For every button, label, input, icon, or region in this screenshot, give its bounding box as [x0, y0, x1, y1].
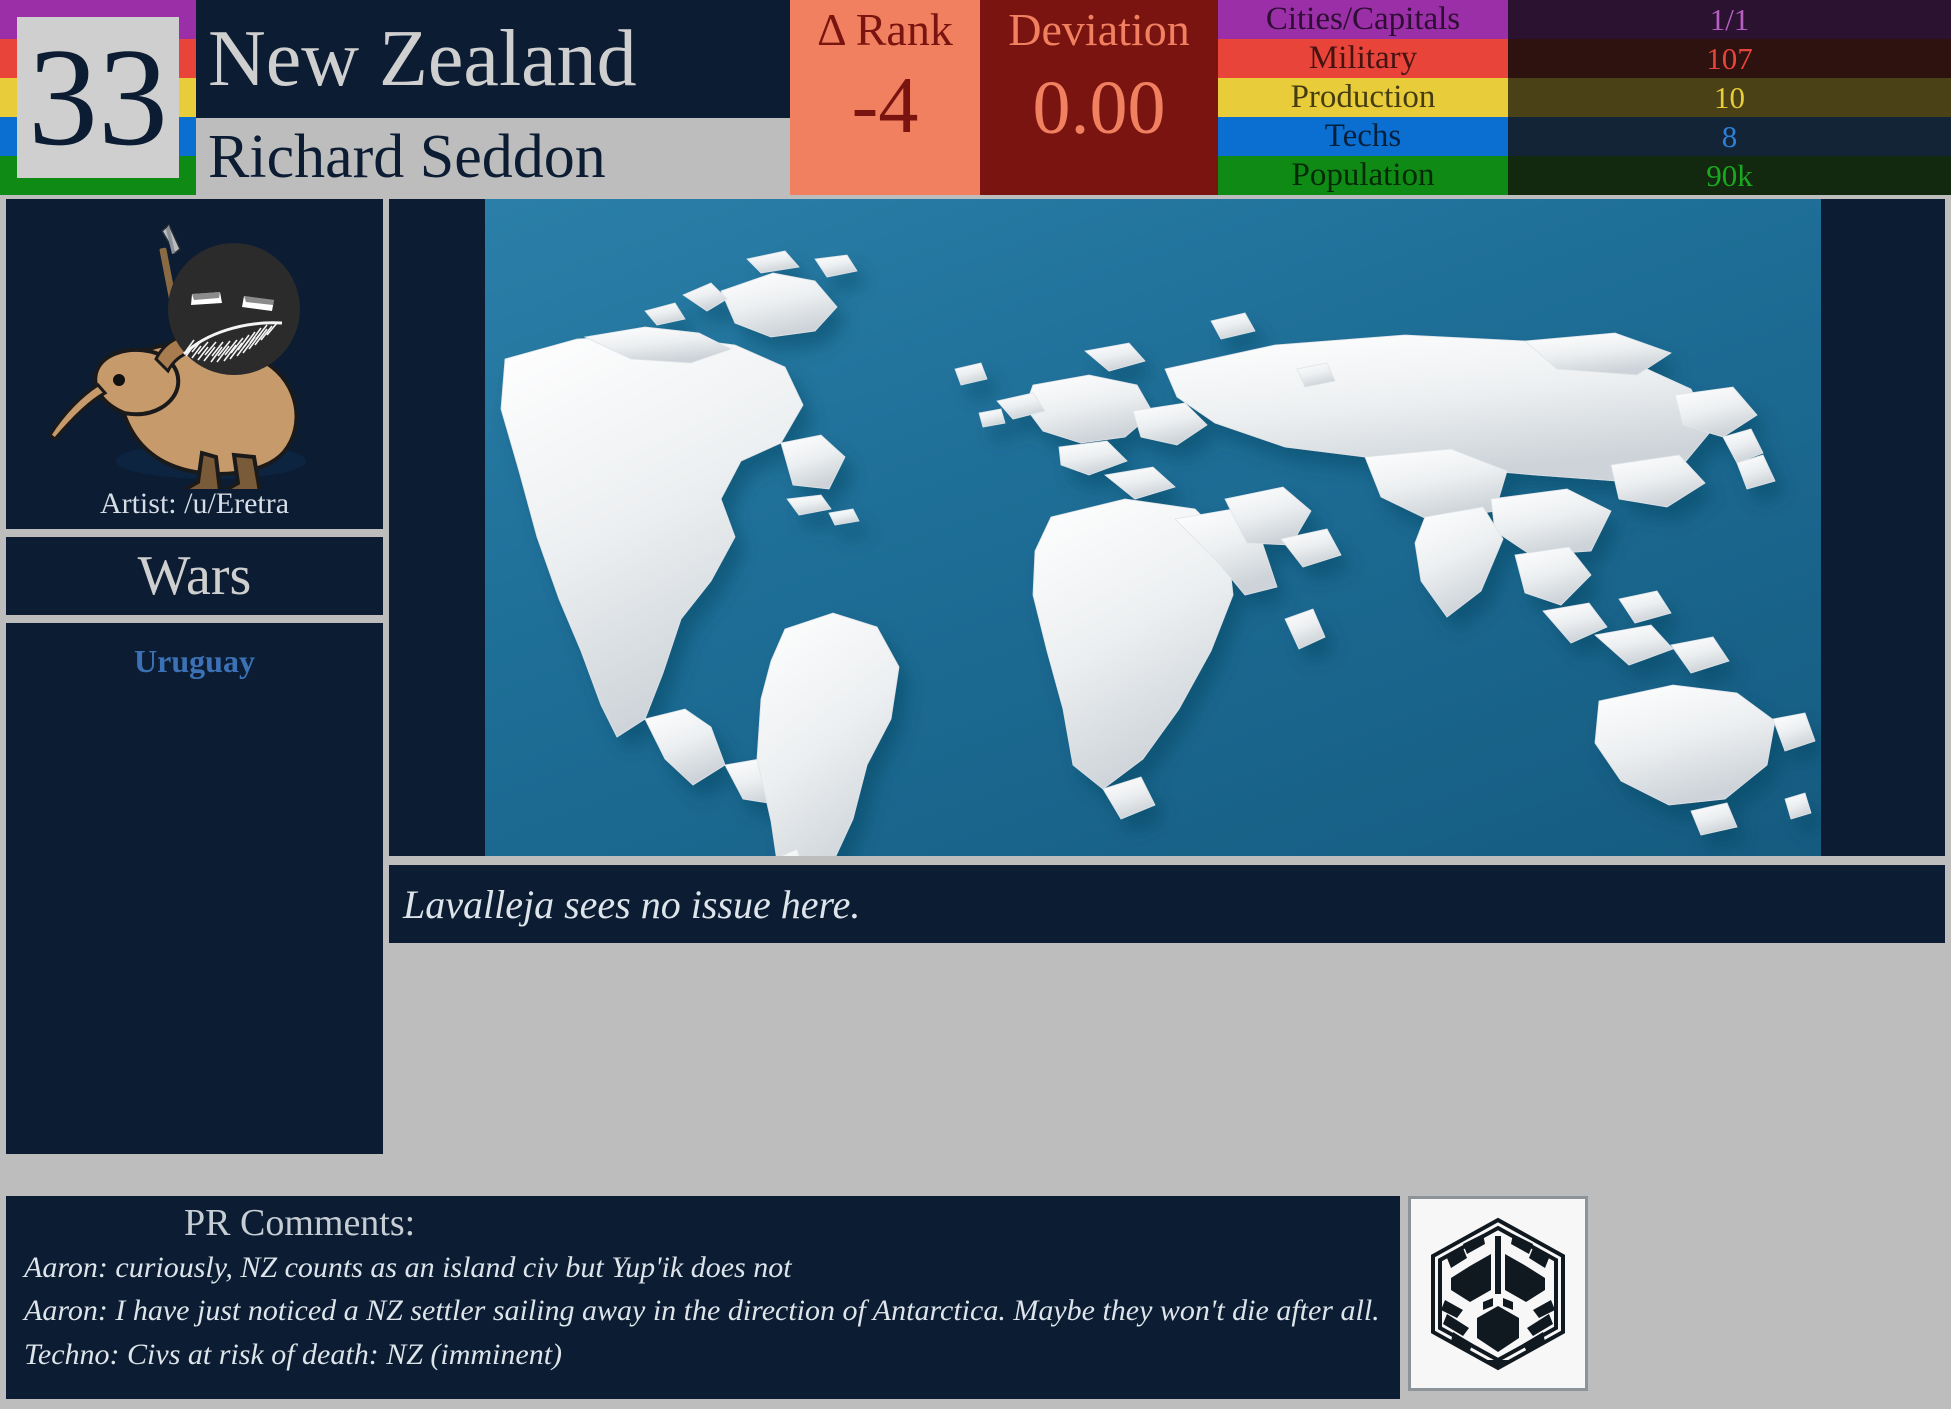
right-column: Lavalleja sees no issue here. [389, 199, 1945, 1154]
deviation-value: 0.00 [1033, 54, 1166, 146]
card-body: Artist: /u/Eretra Wars Uruguay [0, 195, 1951, 1160]
stat-label: Military [1218, 39, 1508, 78]
rank-number-plate: 33 [17, 17, 179, 178]
stat-row: Production10 [1218, 78, 1951, 117]
deviation-label: Deviation [1008, 0, 1189, 54]
caption-text: Lavalleja sees no issue here. [389, 881, 860, 928]
deviation-panel: Deviation 0.00 [980, 0, 1218, 195]
pr-comment: Techno: Civs at risk of death: NZ (immin… [24, 1333, 1400, 1377]
caption-panel: Lavalleja sees no issue here. [389, 865, 1945, 943]
pr-comment: Aaron: I have just noticed a NZ settler … [24, 1289, 1400, 1333]
leader-name-row: Richard Seddon [196, 118, 790, 195]
pr-comments-panel: PR Comments: Aaron: curiously, NZ counts… [6, 1196, 1400, 1399]
logo-panel [1408, 1196, 1588, 1391]
leader-name: Richard Seddon [196, 126, 606, 188]
artwork-panel: Artist: /u/Eretra [6, 199, 383, 529]
pr-comments-list: Aaron: curiously, NZ counts as an island… [24, 1246, 1400, 1377]
delta-rank-label: Δ Rank [817, 0, 953, 54]
stat-row: Military107 [1218, 39, 1951, 78]
map-panel [389, 199, 1945, 856]
civ-summary-card: 33 New Zealand Richard Seddon Δ Rank -4 … [0, 0, 1951, 1409]
stat-row: Cities/Capitals1/1 [1218, 0, 1951, 39]
artist-credit: Artist: /u/Eretra [6, 487, 383, 521]
stats-table: Cities/Capitals1/1Military107Production1… [1218, 0, 1951, 195]
delta-rank-panel: Δ Rank -4 [790, 0, 980, 195]
stat-row: Techs8 [1218, 117, 1951, 156]
stat-value: 1/1 [1508, 0, 1951, 39]
kiwi-countryball-icon [6, 199, 383, 489]
wars-header: Wars [6, 537, 383, 615]
pr-comment: Aaron: curiously, NZ counts as an island… [24, 1246, 1400, 1290]
stat-value: 107 [1508, 39, 1951, 78]
title-block: New Zealand Richard Seddon [196, 0, 790, 195]
stat-label: Production [1218, 78, 1508, 117]
pr-comments-title: PR Comments: [24, 1202, 1400, 1246]
stat-value: 10 [1508, 78, 1951, 117]
world-map-image [485, 199, 1821, 856]
delta-rank-value: -4 [852, 54, 919, 146]
war-opponent[interactable]: Uruguay [6, 637, 383, 685]
civ-name: New Zealand [196, 19, 637, 99]
stat-value: 8 [1508, 117, 1951, 156]
wars-title: Wars [138, 548, 252, 604]
spacer-panel [389, 952, 1945, 1154]
rank-badge: 33 [0, 0, 196, 195]
card-footer: PR Comments: Aaron: curiously, NZ counts… [0, 1160, 1951, 1409]
hexagon-trio-logo-icon [1423, 1214, 1573, 1374]
stat-label: Population [1218, 156, 1508, 195]
left-column: Artist: /u/Eretra Wars Uruguay [6, 199, 383, 1154]
stat-value: 90k [1508, 156, 1951, 195]
card-header: 33 New Zealand Richard Seddon Δ Rank -4 … [0, 0, 1951, 195]
wars-list: Uruguay [6, 623, 383, 1154]
rank-number: 33 [28, 28, 168, 168]
stat-label: Cities/Capitals [1218, 0, 1508, 39]
stat-row: Population90k [1218, 156, 1951, 195]
civ-name-row: New Zealand [196, 0, 790, 118]
stat-label: Techs [1218, 117, 1508, 156]
low-poly-world-map-graphic [485, 199, 1821, 856]
